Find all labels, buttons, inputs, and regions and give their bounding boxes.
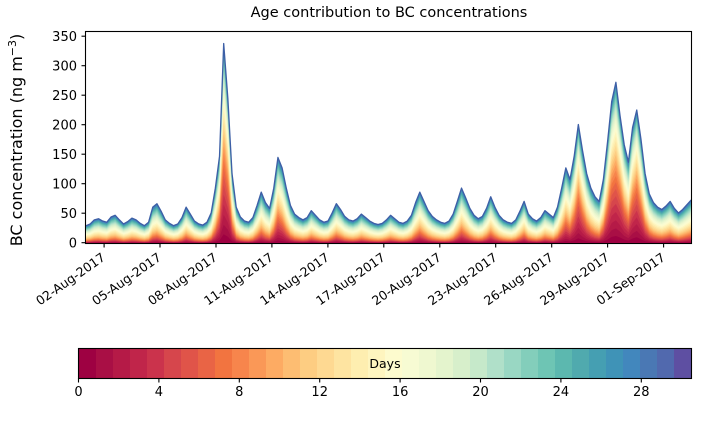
colorbar-band-28 xyxy=(555,349,573,378)
matplotlib-figure: Age contribution to BC concentrations BC… xyxy=(0,0,707,425)
colorbar-band-12 xyxy=(283,349,301,378)
y-axis-label-tail: ) xyxy=(7,34,26,40)
colorbar-tick-label: 4 xyxy=(155,385,163,400)
colorbar-band-5 xyxy=(164,349,182,378)
colorbar-band-15 xyxy=(334,349,352,378)
colorbar-band-20 xyxy=(419,349,437,378)
y-axis-label: BC concentration (ng m−3) xyxy=(6,34,26,247)
colorbar-band-26 xyxy=(521,349,539,378)
colorbar-band-3 xyxy=(130,349,148,378)
colorbar-tick-label: 24 xyxy=(553,385,570,400)
y-axis-label-exponent: −3 xyxy=(6,40,19,56)
colorbar-band-14 xyxy=(317,349,335,378)
colorbar-band-7 xyxy=(198,349,216,378)
y-tick-label: 200 xyxy=(52,118,77,133)
colorbar-band-21 xyxy=(436,349,454,378)
y-tick-label: 350 xyxy=(52,30,77,45)
colorbar-band-11 xyxy=(266,349,284,378)
colorbar-band-0 xyxy=(79,349,97,378)
colorbar-band-27 xyxy=(538,349,556,378)
colorbar-band-13 xyxy=(300,349,318,378)
colorbar-label: Days xyxy=(369,356,400,371)
colorbar-band-35 xyxy=(674,349,692,378)
colorbar-band-1 xyxy=(96,349,114,378)
colorbar-band-19 xyxy=(402,349,420,378)
colorbar-band-29 xyxy=(572,349,590,378)
y-tick-label: 50 xyxy=(60,207,77,222)
colorbar-band-25 xyxy=(504,349,522,378)
colorbar-tick-label: 16 xyxy=(392,385,409,400)
colorbar-band-22 xyxy=(453,349,471,378)
y-tick-label: 100 xyxy=(52,177,77,192)
colorbar-tick-label: 8 xyxy=(235,385,243,400)
colorbar-band-33 xyxy=(640,349,658,378)
colorbar-band-4 xyxy=(147,349,165,378)
colorbar-band-16 xyxy=(351,349,369,378)
colorbar-band-6 xyxy=(181,349,199,378)
colorbar-band-34 xyxy=(657,349,675,378)
colorbar-tick-label: 28 xyxy=(633,385,650,400)
colorbar-band-2 xyxy=(113,349,131,378)
y-tick-label: 0 xyxy=(69,236,77,251)
figure-canvas: Age contribution to BC concentrations BC… xyxy=(0,0,707,425)
colorbar-band-9 xyxy=(232,349,250,378)
colorbar-tick-label: 12 xyxy=(311,385,328,400)
colorbar-tick-label: 20 xyxy=(472,385,489,400)
colorbar-band-8 xyxy=(215,349,233,378)
colorbar-band-31 xyxy=(606,349,624,378)
colorbar-band-10 xyxy=(249,349,267,378)
colorbar-band-32 xyxy=(623,349,641,378)
colorbar-tick-label: 0 xyxy=(74,385,82,400)
y-tick-label: 300 xyxy=(52,59,77,74)
y-axis-label-main: BC concentration (ng m xyxy=(7,56,26,246)
colorbar-band-24 xyxy=(487,349,505,378)
y-tick-label: 250 xyxy=(52,89,77,104)
colorbar-band-30 xyxy=(589,349,607,378)
chart-title: Age contribution to BC concentrations xyxy=(251,5,528,21)
svg-text:BC concentration (ng m−3): BC concentration (ng m−3) xyxy=(6,34,26,247)
y-tick-label: 150 xyxy=(52,148,77,163)
colorbar-band-23 xyxy=(470,349,488,378)
